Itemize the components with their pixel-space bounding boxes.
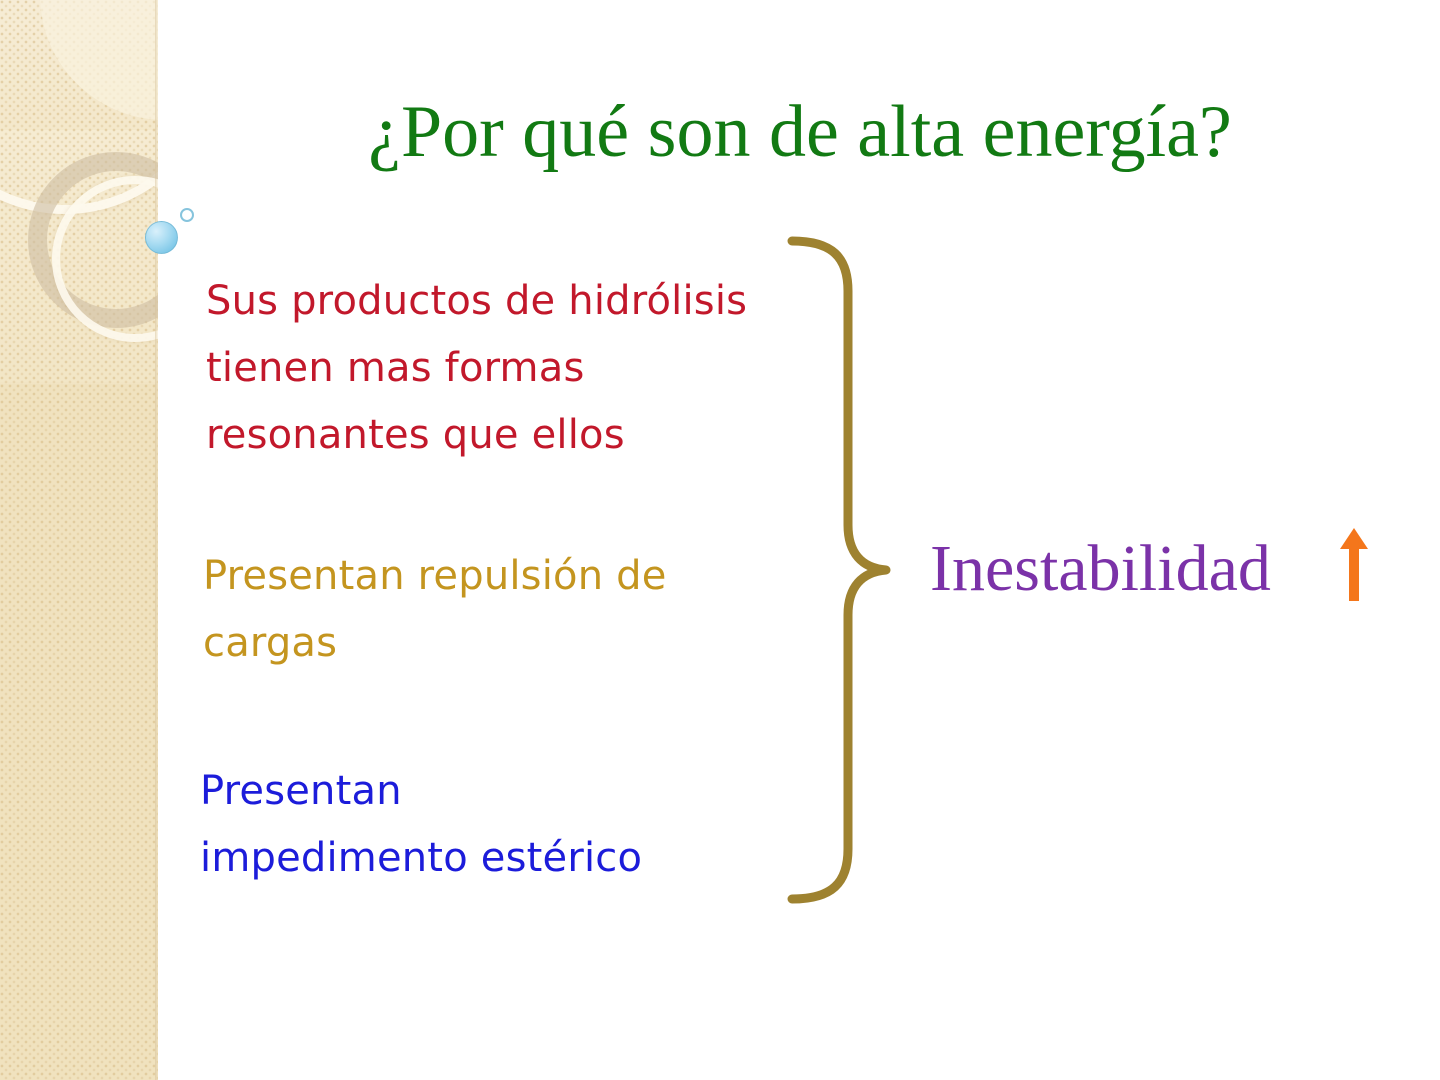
sidebar-edge-shadow [155, 0, 158, 1080]
decorative-sidebar [0, 0, 158, 1080]
conclusion-label: Inestabilidad [930, 536, 1271, 602]
grouping-brace [770, 235, 930, 905]
reason-steric-hindrance: Presentan impedimento estérico [200, 758, 840, 892]
small-bubble-outline-icon [180, 208, 194, 222]
page-title: ¿Por qué son de alta energía? [200, 94, 1400, 172]
reason-charge-repulsion: Presentan repulsión de cargas [203, 543, 843, 677]
up-arrow-path [1340, 528, 1368, 601]
up-arrow-icon [1338, 527, 1370, 603]
brace-path [792, 241, 886, 899]
reason-hydrolysis-products: Sus productos de hidrólisis tienen mas f… [206, 268, 846, 469]
slide-canvas: ¿Por qué son de alta energía? Sus produc… [0, 0, 1440, 1080]
blue-bubble-icon [145, 221, 178, 254]
